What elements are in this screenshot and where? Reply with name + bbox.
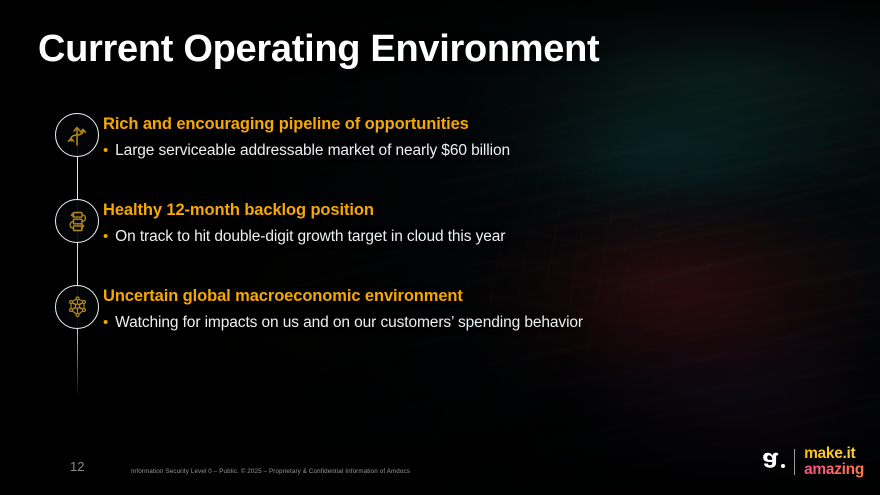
section-heading: Rich and encouraging pipeline of opportu… — [103, 115, 510, 134]
logo-tagline-line2: amazing — [804, 462, 864, 478]
branching-arrows-icon — [55, 113, 99, 157]
timeline-rail — [77, 135, 79, 397]
timeline-item-text: Uncertain global macroeconomic environme… — [103, 287, 583, 333]
timeline-list: Rich and encouraging pipeline of opportu… — [55, 113, 755, 383]
bullet-text: On track to hit double-digit growth targ… — [115, 228, 505, 246]
section-bullet: • On track to hit double-digit growth ta… — [103, 228, 505, 247]
section-heading: Healthy 12-month backlog position — [103, 201, 505, 220]
amdocs-logo: a make.it amazing — [762, 446, 864, 478]
bullet-marker: • — [103, 228, 108, 247]
section-heading: Uncertain global macroeconomic environme… — [103, 287, 583, 306]
logo-letter-a: a — [762, 448, 778, 476]
timeline-item-text: Rich and encouraging pipeline of opportu… — [103, 115, 510, 161]
network-nodes-icon — [55, 285, 99, 329]
bullet-marker: • — [103, 142, 108, 161]
bullet-marker: • — [103, 314, 108, 333]
section-bullet: • Large serviceable addressable market o… — [103, 142, 510, 161]
page-number: 12 — [70, 459, 84, 474]
bullet-text: Large serviceable addressable market of … — [115, 142, 510, 160]
section-bullet: • Watching for impacts on us and on our … — [103, 314, 583, 333]
timeline-item-text: Healthy 12-month backlog position • On t… — [103, 201, 505, 247]
amdocs-a-mark: a — [762, 448, 785, 476]
slide-canvas: Current Operating Environment Rich and e… — [0, 0, 880, 495]
bullet-text: Watching for impacts on us and on our cu… — [115, 314, 583, 332]
legal-notice: Information Security Level 0 – Public. ©… — [131, 468, 410, 475]
logo-dot — [781, 464, 785, 468]
logo-tagline-line1: make.it — [804, 446, 864, 462]
logo-divider — [794, 449, 795, 475]
logo-tagline: make.it amazing — [804, 446, 864, 478]
workflow-queue-icon — [55, 199, 99, 243]
page-title: Current Operating Environment — [38, 28, 599, 71]
